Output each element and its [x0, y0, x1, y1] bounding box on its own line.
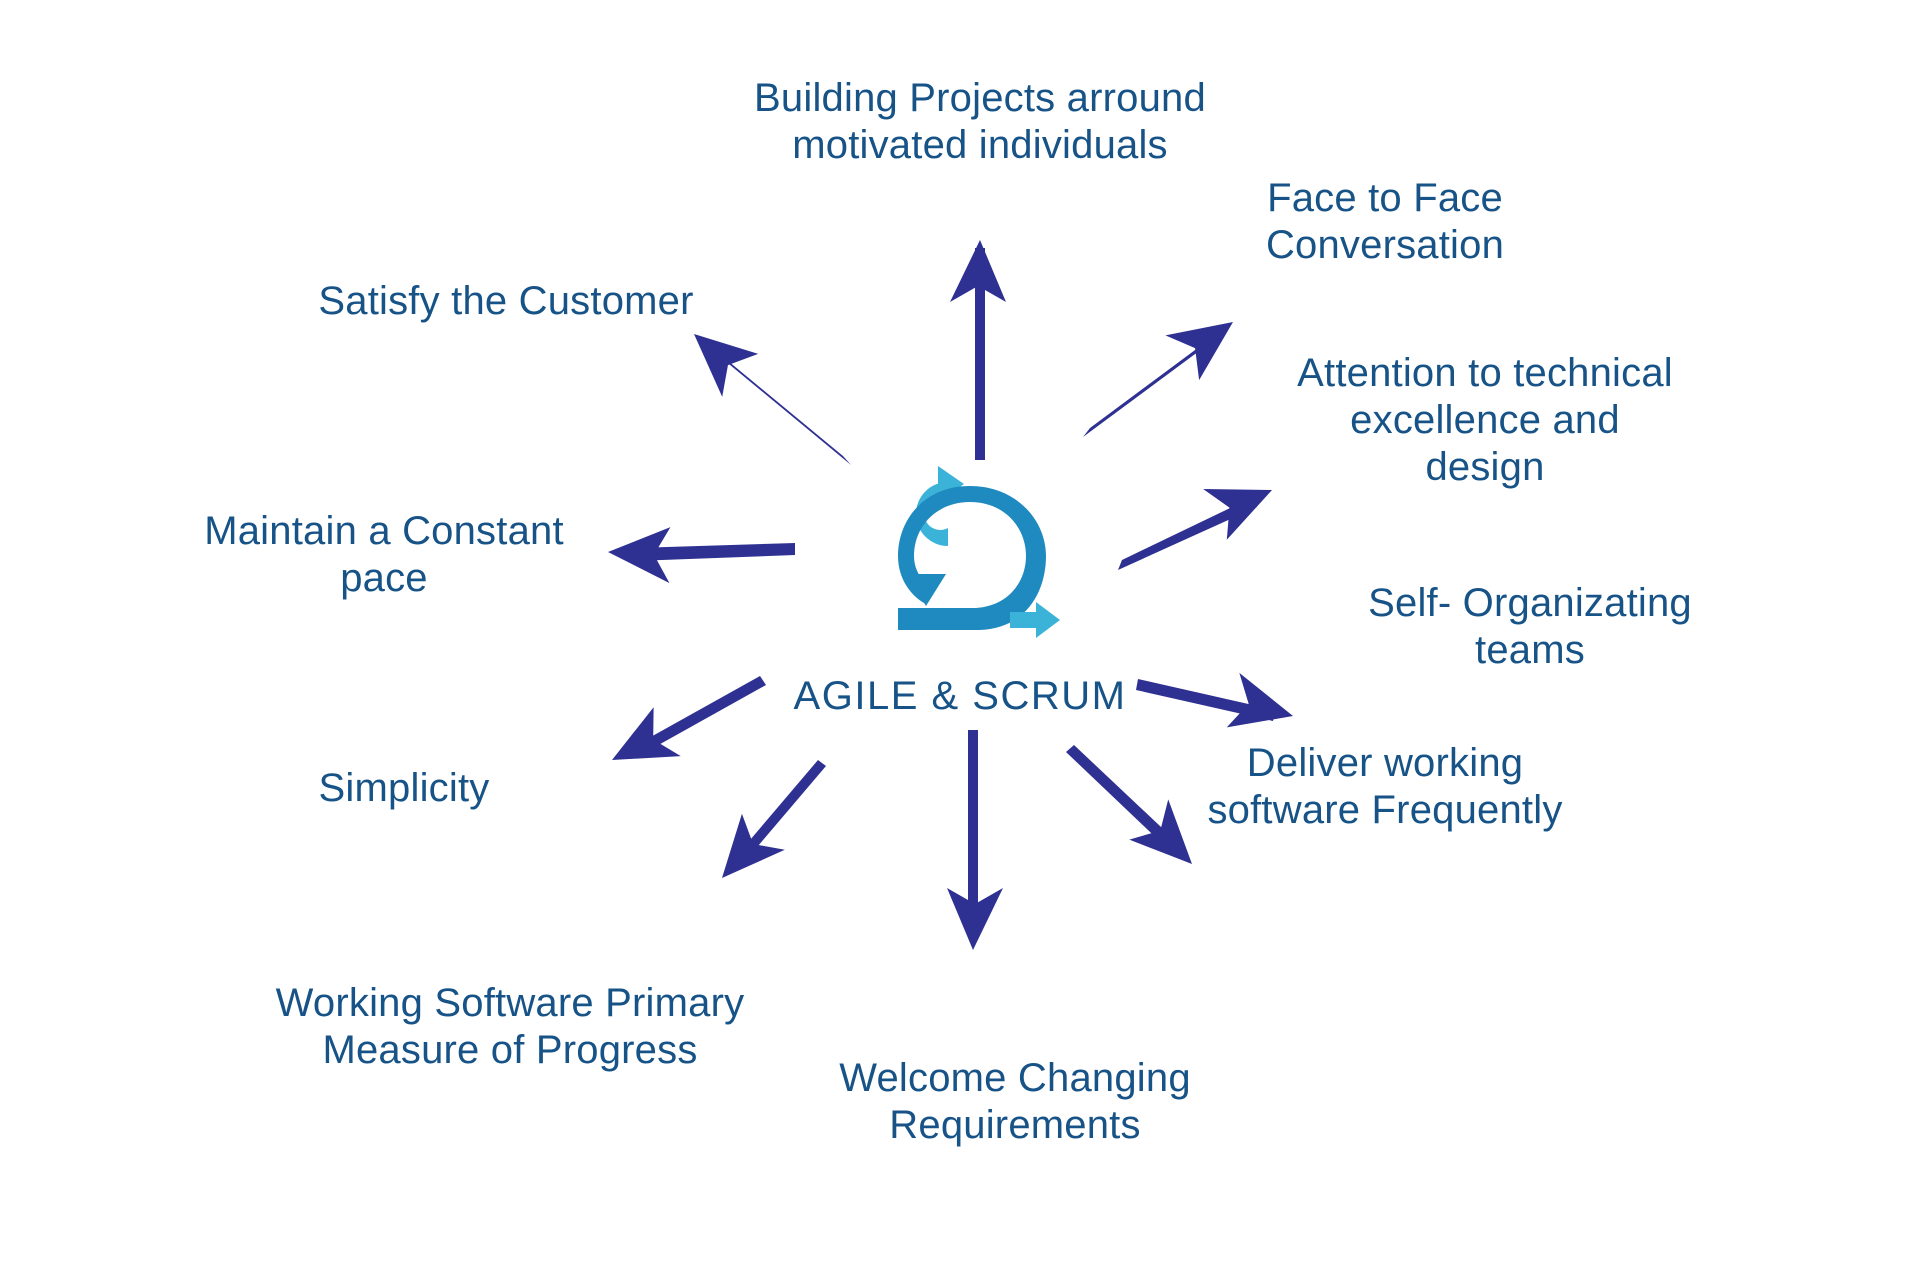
principle-label-working-software: Working Software Primary Measure of Prog…: [276, 980, 745, 1074]
scrum-cycle-logo: [860, 430, 1080, 650]
arrow-technical-excellence: [1118, 463, 1283, 570]
principle-label-simplicity: Simplicity: [319, 765, 490, 812]
arrow-constant-pace: [607, 526, 795, 583]
principle-label-welcome-changing: Welcome Changing Requirements: [839, 1055, 1191, 1149]
arrow-welcome-changing: [947, 730, 1003, 950]
principle-label-technical-excellence: Attention to technical excellence and de…: [1297, 350, 1673, 492]
arrow-building-projects: [950, 240, 1006, 460]
principle-label-deliver-working: Deliver working software Frequently: [1207, 740, 1562, 834]
principle-label-face-to-face: Face to Face Conversation: [1266, 175, 1504, 269]
arrow-simplicity: [599, 676, 766, 786]
arrow-satisfy-customer: [675, 314, 851, 465]
principle-label-constant-pace: Maintain a Constant pace: [204, 508, 564, 602]
arrow-self-organizing: [1136, 673, 1300, 742]
center-caption: AGILE & SCRUM: [794, 674, 1127, 719]
arrow-working-software: [702, 760, 826, 897]
principle-label-satisfy-customer: Satisfy the Customer: [318, 278, 693, 325]
principle-label-self-organizing: Self- Organizating teams: [1368, 580, 1692, 674]
arrow-deliver-working: [1066, 745, 1213, 883]
principle-label-building-projects: Building Projects arround motivated indi…: [754, 75, 1206, 169]
arrow-face-to-face: [1083, 298, 1249, 437]
